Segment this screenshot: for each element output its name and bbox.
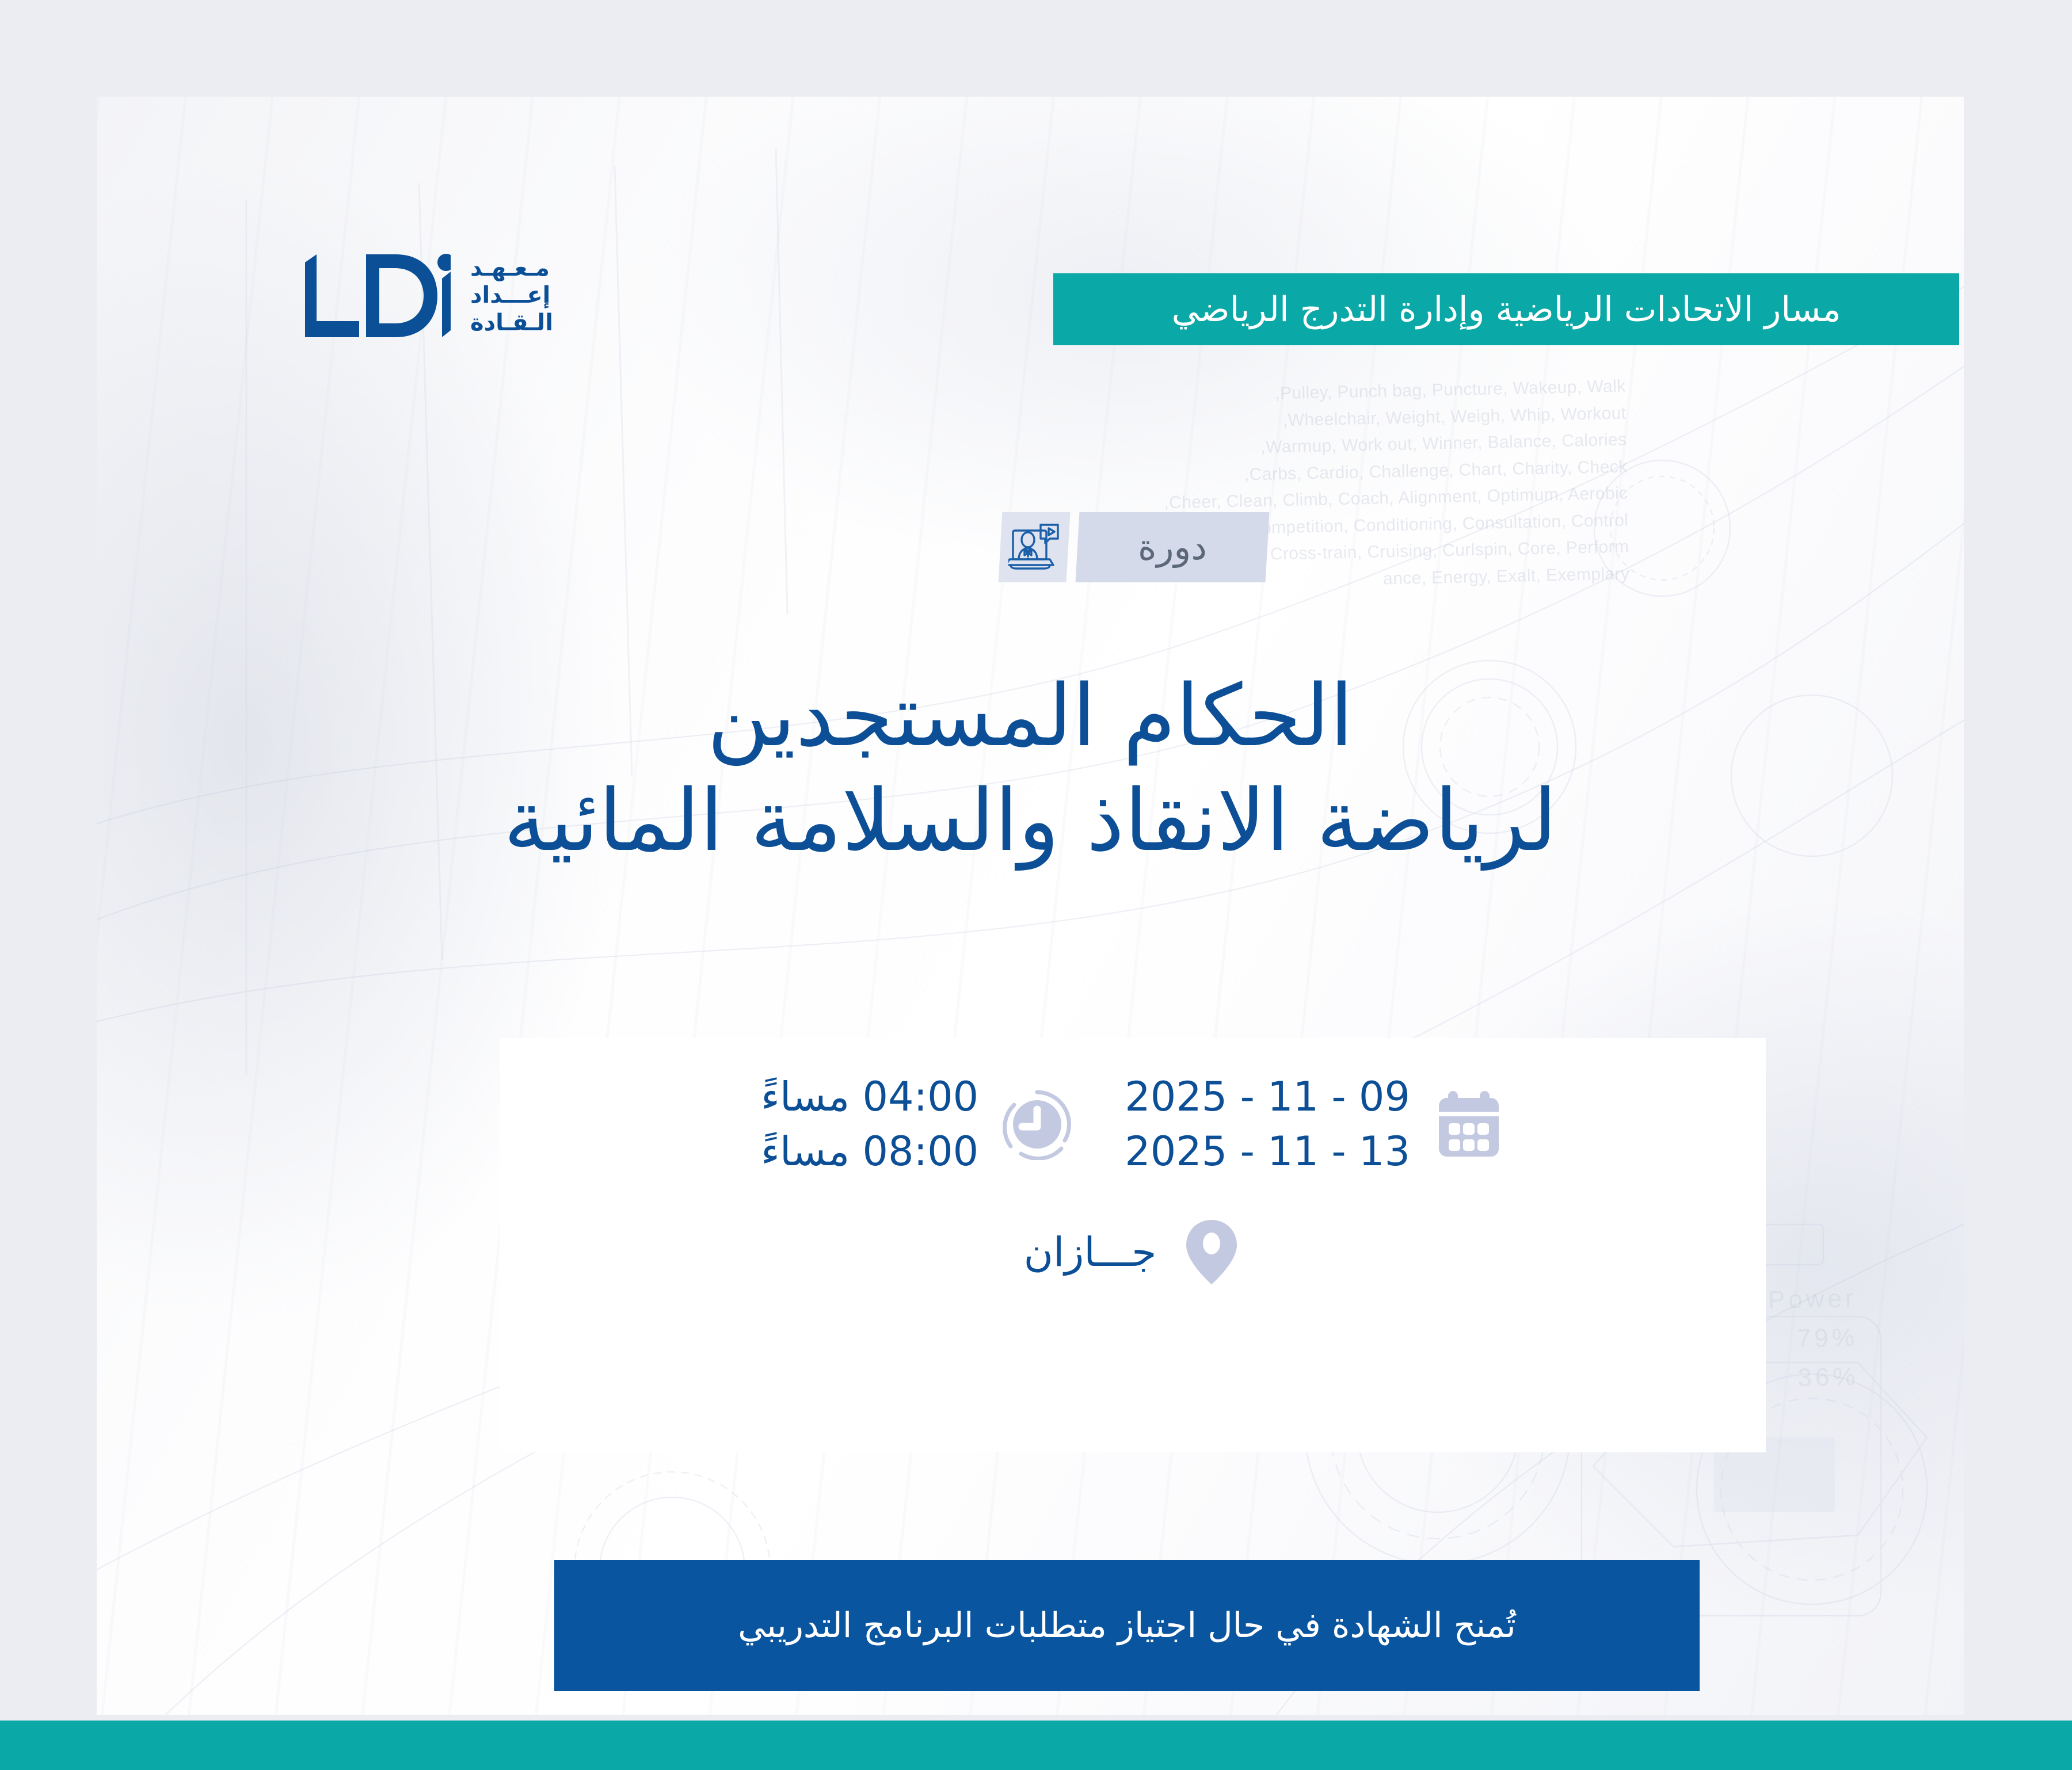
track-banner-label: مسار الاتحادات الرياضية وإدارة التدرج ال…	[1172, 292, 1841, 327]
badge-label: دورة	[1138, 529, 1207, 565]
poster-root: Pulley, Punch bag, Puncture, Wakeup, Wal…	[0, 0, 2072, 1770]
badge-pill: دورة	[1076, 512, 1270, 582]
dates-block: 2025 - 11 - 09 2025 - 11 - 13	[1125, 1074, 1505, 1175]
time-start: 04:00 مساءً	[761, 1074, 978, 1120]
certificate-note-text: تُمنح الشهادة في حال اجتياز متطلبات البر…	[738, 1604, 1516, 1647]
online-course-icon	[1008, 522, 1060, 572]
course-title-line1: الحكام المستجدين	[97, 663, 1964, 768]
map-pin-icon	[1182, 1216, 1241, 1288]
time-end: 08:00 مساءً	[761, 1128, 978, 1175]
ldi-logo-icon	[304, 253, 451, 338]
ldi-logo-arabic: مـعـهـد إعـــداد الـقـادة	[470, 255, 553, 337]
times-block: 04:00 مساءً 08:00 مساءً	[761, 1074, 1113, 1175]
poster-panel: Pulley, Punch bag, Puncture, Wakeup, Wal…	[97, 97, 1964, 1715]
ldi-logo: مـعـهـد إعـــداد الـقـادة	[304, 253, 553, 338]
date-end: 2025 - 11 - 13	[1125, 1128, 1410, 1175]
clock-icon-slot	[1001, 1089, 1073, 1160]
certificate-note-banner: تُمنح الشهادة في حال اجتياز متطلبات البر…	[554, 1560, 1700, 1691]
ldi-logo-arabic-line2: إعـــداد	[470, 282, 550, 309]
times-values: 04:00 مساءً 08:00 مساءً	[761, 1074, 978, 1175]
badge-icon-box	[999, 512, 1071, 582]
location-city: جـــازان	[1024, 1232, 1157, 1272]
ldi-logo-arabic-line1: مـعـهـد	[470, 255, 550, 282]
dates-values: 2025 - 11 - 09 2025 - 11 - 13	[1125, 1074, 1410, 1175]
course-title-line2: لرياضة الانقاذ والسلامة المائية	[97, 768, 1964, 873]
map-pin-icon-slot	[1182, 1216, 1241, 1288]
course-info-card: 2025 - 11 - 09 2025 - 11 - 13	[500, 1038, 1766, 1452]
calendar-icon-slot	[1433, 1089, 1505, 1160]
calendar-icon	[1433, 1089, 1505, 1160]
clock-icon	[1001, 1089, 1073, 1160]
footer-strip	[0, 1721, 2072, 1770]
course-title: الحكام المستجدين لرياضة الانقاذ والسلامة…	[97, 663, 1964, 873]
course-type-badge: دورة	[1000, 512, 1267, 582]
date-start: 2025 - 11 - 09	[1125, 1074, 1410, 1120]
location-block: جـــازان	[551, 1216, 1714, 1288]
ldi-logo-arabic-line3: الـقـادة	[470, 310, 553, 337]
info-card-top-row: 2025 - 11 - 09 2025 - 11 - 13	[551, 1074, 1714, 1175]
track-banner: مسار الاتحادات الرياضية وإدارة التدرج ال…	[1053, 273, 1959, 345]
